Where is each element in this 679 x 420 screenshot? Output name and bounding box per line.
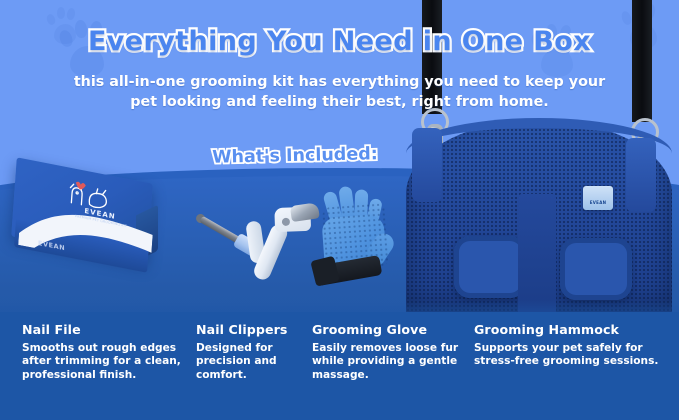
caption-grooming-glove: Grooming Glove Easily removes loose fur … [312, 322, 462, 382]
caption-title: Grooming Glove [312, 322, 462, 337]
caption-title: Grooming Hammock [474, 322, 664, 337]
hammock-brand-patch: EVEAN [583, 186, 613, 210]
product-captions: Nail File Smooths out rough edges after … [0, 322, 679, 418]
caption-title: Nail File [22, 322, 187, 337]
caption-description: Supports your pet safely for stress-free… [474, 342, 664, 369]
caption-grooming-hammock: Grooming Hammock Supports your pet safel… [474, 322, 664, 369]
product-box: EVEAN PREMIUM PET GROOMING KIT EVEAN [12, 170, 162, 288]
hammock-leg-hole-left [454, 236, 526, 298]
hammock-tab-right [626, 138, 656, 212]
caption-nail-file: Nail File Smooths out rough edges after … [22, 322, 187, 382]
page-subtitle: this all-in-one grooming kit has everyth… [60, 72, 619, 112]
hammock-tab-left [412, 128, 442, 202]
page-title: Everything You Need in One Box [0, 26, 679, 57]
caption-description: Smooths out rough edges after trimming f… [22, 342, 187, 382]
hammock-patch-label: EVEAN [583, 200, 613, 205]
infographic-canvas: EVEAN EVEAN PREMIUM P [0, 0, 679, 420]
caption-nail-clippers: Nail Clippers Designed for precision and… [196, 322, 301, 382]
caption-description: Easily removes loose fur while providing… [312, 342, 462, 382]
caption-description: Designed for precision and comfort. [196, 342, 301, 382]
caption-title: Nail Clippers [196, 322, 301, 337]
hammock-leg-hole-right [560, 238, 632, 300]
hammock-strap-right [632, 0, 652, 122]
grooming-glove-product [305, 183, 406, 297]
